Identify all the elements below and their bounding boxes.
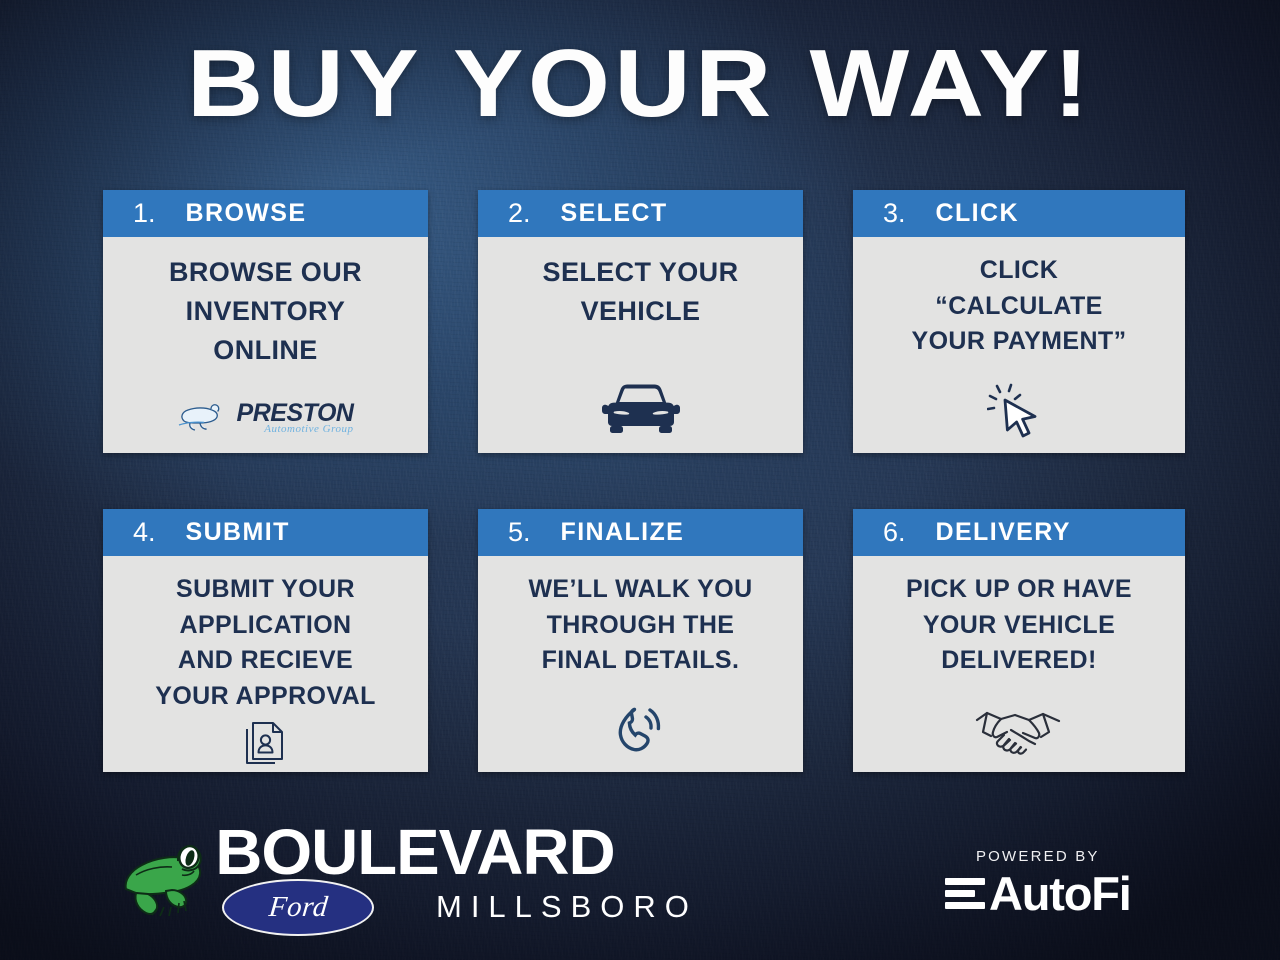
step-line: SELECT YOUR <box>543 253 739 292</box>
step-description: SUBMIT YOUR APPLICATION AND RECIEVE YOUR… <box>155 572 376 714</box>
steps-grid: 1. BROWSE BROWSE OUR INVENTORY ONLINE <box>103 190 1185 772</box>
step-line: FINAL DETAILS. <box>528 643 752 679</box>
step-number: 1. <box>133 200 156 227</box>
autofi-bars-icon <box>945 878 985 909</box>
step-title: FINALIZE <box>561 520 685 545</box>
step-title: DELIVERY <box>936 520 1071 545</box>
handshake-icon <box>971 702 1067 762</box>
step-card-4[interactable]: 4. SUBMIT SUBMIT YOUR APPLICATION AND RE… <box>103 509 428 772</box>
step-line: YOUR VEHICLE <box>906 608 1132 644</box>
step-number: 3. <box>883 200 906 227</box>
step-description: SELECT YOUR VEHICLE <box>543 253 739 331</box>
step-number: 6. <box>883 519 906 546</box>
step-card-5[interactable]: 5. FINALIZE WE’LL WALK YOU THROUGH THE F… <box>478 509 803 772</box>
step-number: 5. <box>508 519 531 546</box>
step-card-1[interactable]: 1. BROWSE BROWSE OUR INVENTORY ONLINE <box>103 190 428 453</box>
step-description: WE’LL WALK YOU THROUGH THE FINAL DETAILS… <box>528 572 752 679</box>
step-card-3[interactable]: 3. CLICK CLICK “CALCULATE YOUR PAYMENT” <box>853 190 1185 453</box>
step-line: THROUGH THE <box>528 608 752 644</box>
step-line: ONLINE <box>169 331 362 370</box>
step-card-1-header: 1. BROWSE <box>103 190 428 237</box>
step-line: DELIVERED! <box>906 643 1132 679</box>
frog-outline-icon <box>178 401 234 435</box>
step-description: PICK UP OR HAVE YOUR VEHICLE DELIVERED! <box>906 572 1132 679</box>
dealer-name: BOULEVARD <box>215 822 702 883</box>
step-line: YOUR PAYMENT” <box>912 324 1127 360</box>
step-line: BROWSE OUR <box>169 253 362 292</box>
step-line: APPLICATION <box>155 608 376 644</box>
step-number: 4. <box>133 519 156 546</box>
step-card-6-header: 6. DELIVERY <box>853 509 1185 556</box>
step-number: 2. <box>508 200 531 227</box>
autofi-branding[interactable]: POWERED BY AutoFi <box>945 848 1131 917</box>
step-line: PICK UP OR HAVE <box>906 572 1132 608</box>
dealer-branding[interactable]: BOULEVARD Ford MILLSBORO <box>122 822 698 936</box>
page-title: BUY YOUR WAY! <box>0 36 1280 132</box>
step-card-3-body: CLICK “CALCULATE YOUR PAYMENT” <box>853 237 1185 453</box>
car-front-icon <box>598 377 684 443</box>
cursor-click-icon <box>987 383 1051 443</box>
step-card-5-body: WE’LL WALK YOU THROUGH THE FINAL DETAILS… <box>478 556 803 772</box>
step-title: SUBMIT <box>186 520 290 545</box>
powered-by-label: POWERED BY <box>976 848 1100 865</box>
step-card-2-body: SELECT YOUR VEHICLE <box>478 237 803 453</box>
step-card-1-body: BROWSE OUR INVENTORY ONLINE <box>103 237 428 453</box>
green-frog-logo <box>122 833 214 925</box>
step-card-2-header: 2. SELECT <box>478 190 803 237</box>
step-card-4-body: SUBMIT YOUR APPLICATION AND RECIEVE YOUR… <box>103 556 428 780</box>
application-document-icon <box>239 714 293 770</box>
step-title: BROWSE <box>186 201 307 226</box>
step-line: SUBMIT YOUR <box>155 572 376 608</box>
step-title: CLICK <box>936 201 1019 226</box>
step-card-3-header: 3. CLICK <box>853 190 1185 237</box>
preston-automotive-group-logo: PRESTON Automotive Group <box>178 405 354 443</box>
autofi-wordmark: AutoFi <box>989 870 1131 917</box>
dealer-location: MILLSBORO <box>436 889 698 925</box>
step-title: SELECT <box>561 201 668 226</box>
step-description: BROWSE OUR INVENTORY ONLINE <box>169 253 362 370</box>
step-line: WE’LL WALK YOU <box>528 572 752 608</box>
step-line: VEHICLE <box>543 292 739 331</box>
step-card-2[interactable]: 2. SELECT SELECT YOUR VEHICLE <box>478 190 803 453</box>
step-card-6-body: PICK UP OR HAVE YOUR VEHICLE DELIVERED! <box>853 556 1185 772</box>
step-line: YOUR APPROVAL <box>155 679 376 715</box>
ford-wordmark: Ford <box>267 891 329 924</box>
footer: BOULEVARD Ford MILLSBORO POWERED BY Auto… <box>0 800 1280 960</box>
step-card-6[interactable]: 6. DELIVERY PICK UP OR HAVE YOUR VEHICLE… <box>853 509 1185 772</box>
step-line: AND RECIEVE <box>155 643 376 679</box>
step-card-5-header: 5. FINALIZE <box>478 509 803 556</box>
step-description: CLICK “CALCULATE YOUR PAYMENT” <box>912 253 1127 360</box>
step-line: “CALCULATE <box>912 289 1127 325</box>
step-line: CLICK <box>912 253 1127 289</box>
phone-call-icon <box>610 700 672 762</box>
preston-tagline: Automotive Group <box>237 424 354 435</box>
step-card-4-header: 4. SUBMIT <box>103 509 428 556</box>
step-line: INVENTORY <box>169 292 362 331</box>
